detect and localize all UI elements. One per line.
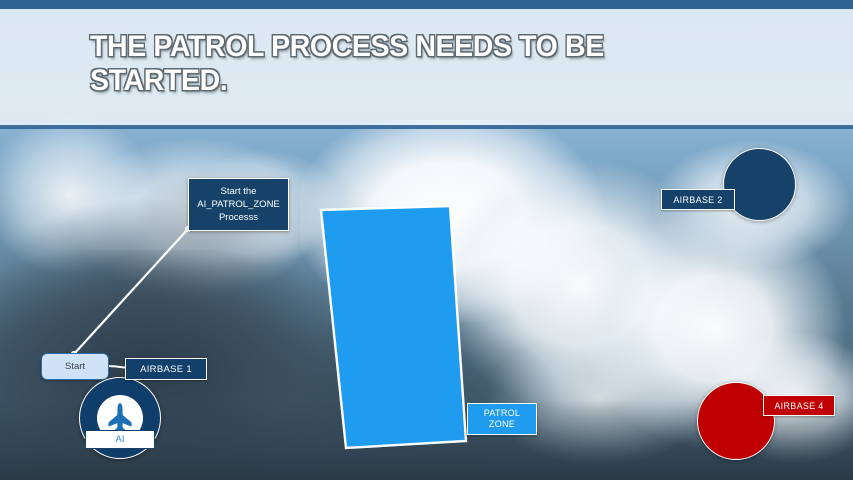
airbase-4-circle[interactable] — [697, 382, 775, 460]
airbase-2-label[interactable]: AIRBASE 2 — [661, 189, 735, 210]
patrol-zone-polygon[interactable] — [310, 195, 485, 460]
process-box-line-2: AI_PATROL_ZONE — [197, 198, 280, 211]
slide-canvas: THE PATROL PROCESS NEEDS TO BE STARTED. … — [0, 0, 853, 480]
header-top-accent-bar — [0, 0, 853, 9]
start-button[interactable]: Start — [41, 353, 109, 380]
slide-title: THE PATROL PROCESS NEEDS TO BE STARTED. — [90, 30, 698, 98]
airbase-2-circle[interactable] — [723, 148, 796, 221]
patrol-zone-label-line-1: PATROL — [484, 408, 520, 419]
process-start-box[interactable]: Start the AI_PATROL_ZONE Processs — [188, 178, 289, 231]
header-bottom-accent-bar — [0, 125, 853, 129]
airbase-4-label[interactable]: AIRBASE 4 — [763, 395, 835, 416]
patrol-zone-label[interactable]: PATROL ZONE — [467, 403, 537, 435]
process-box-line-1: Start the — [221, 185, 257, 198]
airbase-1-label[interactable]: AIRBASE 1 — [125, 358, 207, 380]
patrol-zone-label-line-2: ZONE — [489, 419, 515, 430]
ai-node-label[interactable]: AI — [85, 430, 155, 449]
process-box-line-3: Processs — [219, 211, 258, 224]
